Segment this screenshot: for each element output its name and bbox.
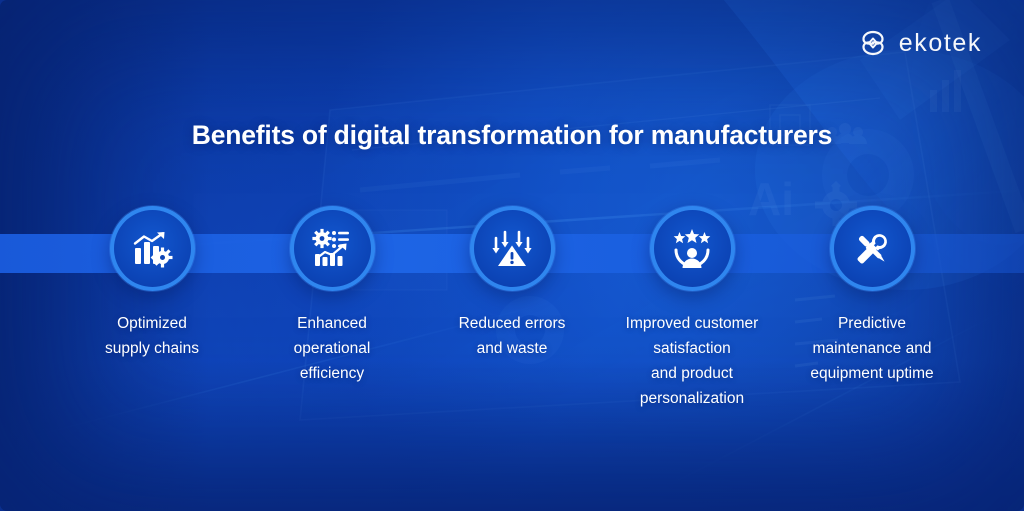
gear-checklist-bar-chart-icon	[311, 228, 353, 270]
benefit-caption: Enhanced operational efficiency	[294, 311, 371, 386]
benefit-item-optimized-supply-chains[interactable]: Optimized supply chains	[62, 206, 242, 361]
caption-line: personalization	[626, 386, 759, 411]
caption-line: operational	[294, 336, 371, 361]
caption-line: efficiency	[294, 361, 371, 386]
caption-line: Enhanced	[294, 311, 371, 336]
benefit-item-enhanced-operational-efficiency[interactable]: Enhanced operational efficiency	[242, 206, 422, 386]
benefit-caption: Improved customer satisfaction and produ…	[626, 311, 759, 411]
person-three-stars-icon	[671, 228, 713, 270]
caption-line: and product	[626, 361, 759, 386]
caption-line: Improved customer	[626, 311, 759, 336]
benefit-icon-circle	[110, 206, 195, 291]
benefit-icon-circle	[290, 206, 375, 291]
benefit-item-improved-customer-satisfaction[interactable]: Improved customer satisfaction and produ…	[602, 206, 782, 411]
bar-chart-growth-gear-icon	[131, 228, 173, 270]
brand-logo[interactable]: ekotek	[858, 28, 982, 58]
page-title: Benefits of digital transformation for m…	[0, 120, 1024, 151]
caption-line: equipment uptime	[810, 361, 933, 386]
caption-line: supply chains	[105, 336, 199, 361]
benefit-icon-circle	[650, 206, 735, 291]
brand-logo-text: ekotek	[899, 31, 982, 56]
caption-line: and waste	[459, 336, 566, 361]
caption-line: maintenance and	[810, 336, 933, 361]
benefit-caption: Optimized supply chains	[105, 311, 199, 361]
caption-line: satisfaction	[626, 336, 759, 361]
benefit-item-reduced-errors-and-waste[interactable]: Reduced errors and waste	[422, 206, 602, 361]
caption-line: Predictive	[810, 311, 933, 336]
benefits-row: Optimized supply chains	[62, 206, 962, 411]
caption-line: Optimized	[105, 311, 199, 336]
caption-line: Reduced errors	[459, 311, 566, 336]
wrench-screwdriver-cross-icon	[851, 228, 893, 270]
benefit-item-predictive-maintenance[interactable]: Predictive maintenance and equipment upt…	[782, 206, 962, 386]
warning-triangle-down-arrows-icon	[491, 228, 533, 270]
benefit-caption: Predictive maintenance and equipment upt…	[810, 311, 933, 386]
benefit-caption: Reduced errors and waste	[459, 311, 566, 361]
infographic-slide: Ai	[0, 0, 1024, 511]
ekotek-link-mark-icon	[858, 28, 888, 58]
benefit-icon-circle	[830, 206, 915, 291]
benefit-icon-circle	[470, 206, 555, 291]
